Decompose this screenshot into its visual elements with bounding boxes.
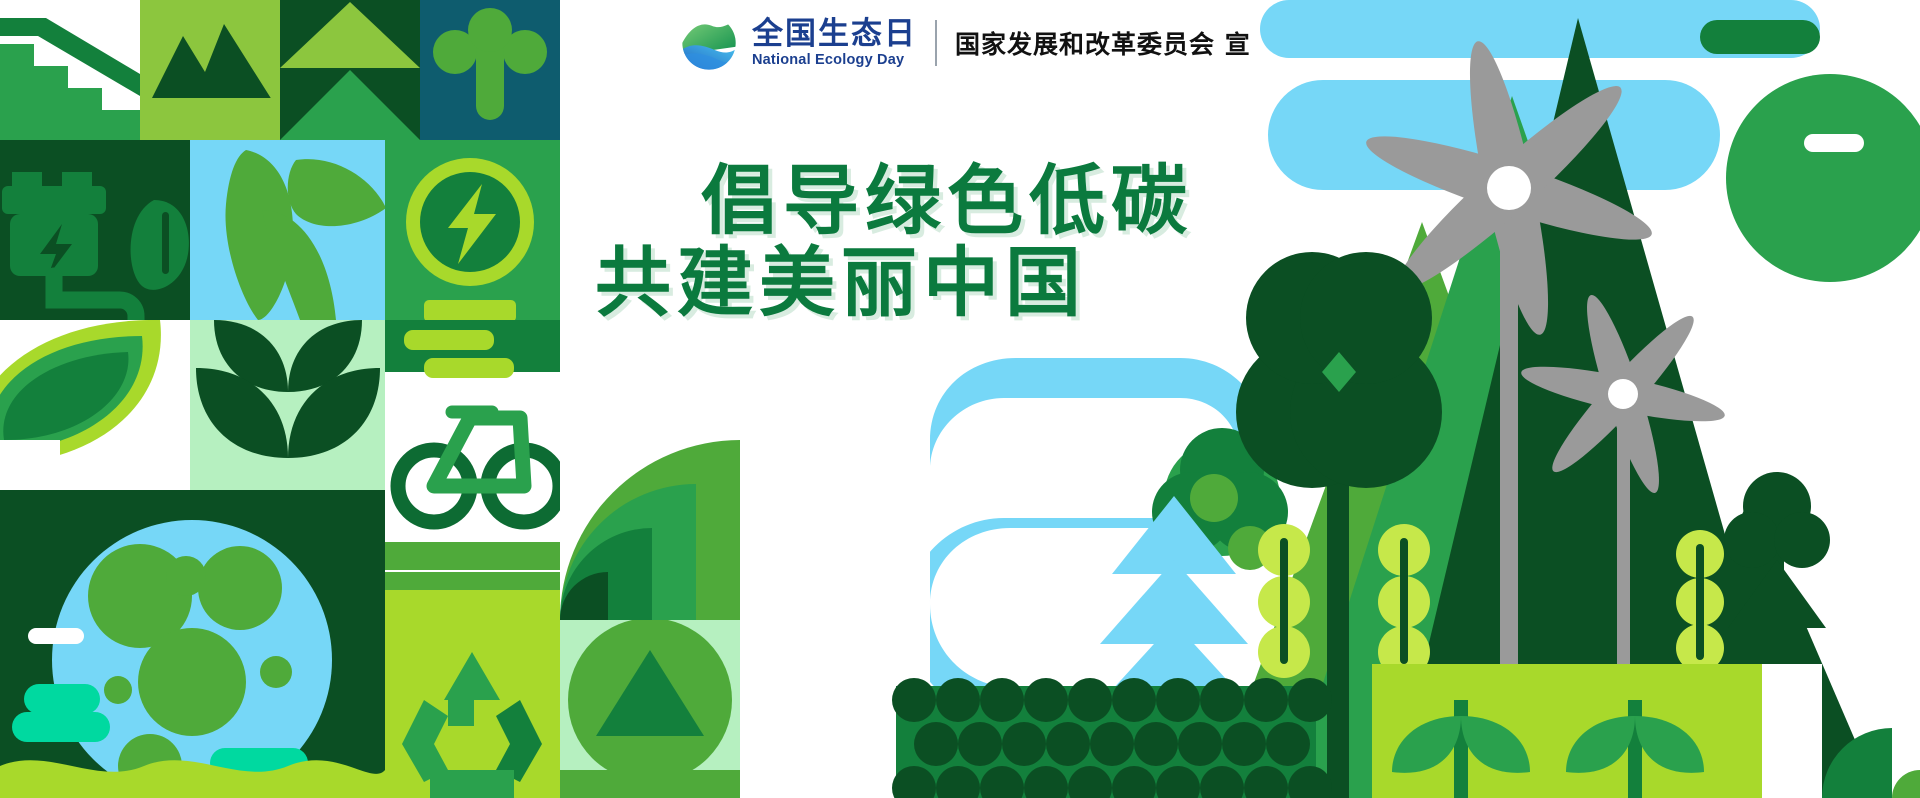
- sprout-tile: [420, 0, 560, 140]
- heart-leaf-tile: [560, 618, 740, 798]
- mosaic-illustration: [0, 0, 1920, 798]
- earth-globe-tile: [0, 490, 385, 798]
- leaf-pair-tile: [190, 140, 386, 320]
- header-bar: 全国生态日 National Ecology Day 国家发展和改革委员会 宣: [680, 14, 1251, 72]
- seedling-tile: [190, 320, 385, 490]
- slogan-line-2: 共建美丽中国: [595, 242, 1193, 324]
- mountain-range-tile: [140, 0, 280, 140]
- slogan-line-1: 倡导绿色低碳: [701, 160, 1193, 242]
- hill-scallop-band: [892, 678, 1332, 798]
- arc-rings-tile: [560, 440, 740, 620]
- eco-poster: 全国生态日 National Ecology Day 国家发展和改革委员会 宣 …: [0, 0, 1920, 798]
- header-divider: [935, 20, 937, 66]
- national-ecology-day-logo-icon: [680, 14, 738, 72]
- slogan-block: 倡导绿色低碳 共建美丽中国: [595, 160, 1193, 324]
- logo-title-en: National Ecology Day: [752, 53, 917, 68]
- recycle-tile: [385, 620, 560, 798]
- issuer-label: 国家发展和改革委员会 宣: [955, 25, 1251, 61]
- landscape-scene: [740, 0, 1920, 798]
- battery-bolt-tile: [385, 140, 560, 322]
- double-triangle-tile: [280, 0, 420, 140]
- bicycle-tile: [385, 320, 560, 588]
- logo-text-block: 全国生态日 National Ecology Day: [752, 19, 917, 68]
- logo-title-cn: 全国生态日: [752, 19, 917, 50]
- stairs-hill-tile: [0, 0, 140, 140]
